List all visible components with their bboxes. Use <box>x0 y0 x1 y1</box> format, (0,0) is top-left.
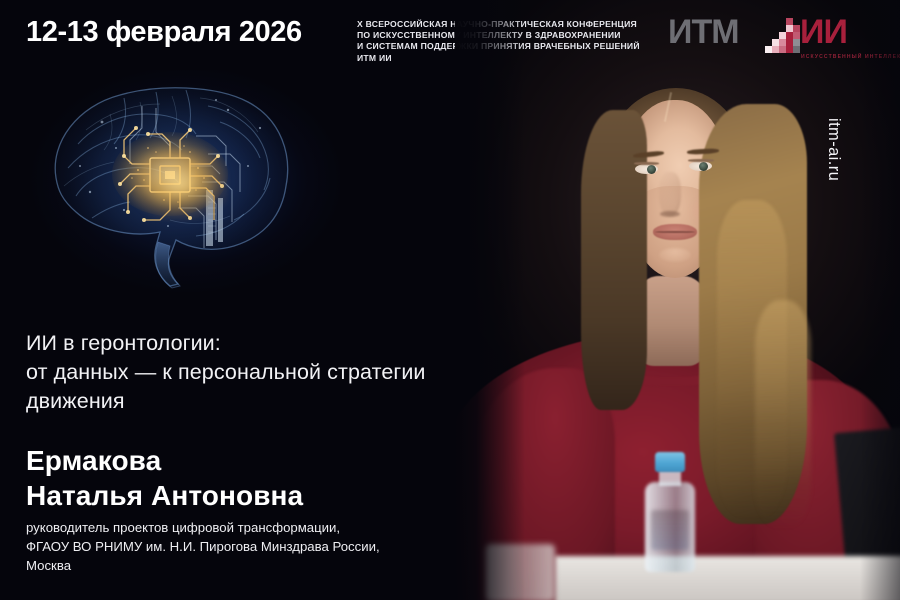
logo-ai-text: ИИ <box>800 15 847 49</box>
table-surface <box>555 556 900 600</box>
affiliation-line: руководитель проектов цифровой трансформ… <box>26 518 496 537</box>
speaker-portrait-photo <box>455 0 900 600</box>
event-date: 12-13 февраля 2026 <box>26 16 302 49</box>
lip-line <box>655 231 695 233</box>
eyelid-right <box>688 159 714 162</box>
speaker-given-names: Наталья Антоновна <box>26 478 496 513</box>
nostrils <box>660 211 680 217</box>
bottle-cap <box>655 452 685 472</box>
iris-left <box>647 165 656 174</box>
photo-left-fade <box>455 0 525 600</box>
nose <box>659 172 681 216</box>
photo-right-fade <box>860 0 900 600</box>
ai-brain-circuit-graphic <box>20 70 340 320</box>
eyelid-left <box>634 162 659 165</box>
affiliation-line: ФГАОУ ВО РНИМУ им. Н.И. Пирогова Минздра… <box>26 537 496 556</box>
chip-glow <box>132 148 228 220</box>
bottle-neck <box>659 470 681 486</box>
bottle-label <box>651 510 689 550</box>
chin-highlight <box>659 248 691 262</box>
water-bottle <box>643 452 697 570</box>
speaker-name: Ермакова Наталья Антоновна <box>26 443 496 513</box>
speaker-surname: Ермакова <box>26 443 496 478</box>
itm-ai-logo: ИТМ ИИ Искусственный интеллект <box>668 12 880 68</box>
website-url[interactable]: itm-ai.ru <box>824 118 843 181</box>
affiliation-line: Москва <box>26 556 496 575</box>
speaker-affiliation: руководитель проектов цифровой трансформ… <box>26 518 496 575</box>
hair-strand <box>755 300 811 530</box>
iris-right <box>699 162 708 171</box>
conference-poster: 12-13 февраля 2026 X ВСЕРОССИЙСКАЯ НАУЧН… <box>0 0 900 600</box>
logo-pixel-triangle-icon <box>756 18 800 56</box>
logo-itm-text: ИТМ <box>668 15 739 49</box>
